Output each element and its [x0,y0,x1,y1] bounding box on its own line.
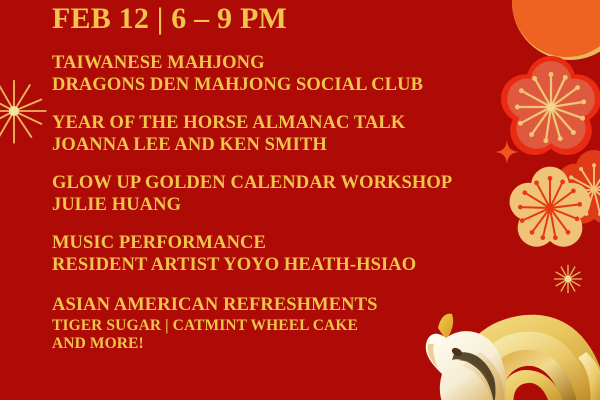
page-title: FEB 12 | 6 – 9 PM [52,2,522,36]
event-block-refreshments: ASIAN AMERICAN REFRESHMENTS TIGER SUGAR … [52,295,522,353]
plum-blossom-red-edge-decoration [556,150,600,226]
event-block-calendar-workshop: GLOW UP GOLDEN CALENDAR WORKSHOP JULIE H… [52,173,522,216]
event-presenter: JOANNA LEE AND KEN SMITH [52,135,522,157]
event-block-almanac-talk: YEAR OF THE HORSE ALMANAC TALK JOANNA LE… [52,113,522,156]
event-block-music-performance: MUSIC PERFORMANCE RESIDENT ARTIST YOYO H… [52,233,522,276]
event-presenter: JULIE HUANG [52,195,522,217]
poster-text-content: FEB 12 | 6 – 9 PM TAIWANESE MAHJONG DRAG… [52,2,522,353]
event-title: YEAR OF THE HORSE ALMANAC TALK [52,113,522,135]
event-title: GLOW UP GOLDEN CALENDAR WORKSHOP [52,173,522,195]
event-detail: AND MORE! [52,335,522,353]
event-title: MUSIC PERFORMANCE [52,233,522,255]
event-block-mahjong: TAIWANESE MAHJONG DRAGONS DEN MAHJONG SO… [52,53,522,96]
firework-burst-decoration [0,75,50,147]
firework-burst-small-decoration [551,262,585,296]
lunar-new-year-event-poster: FEB 12 | 6 – 9 PM TAIWANESE MAHJONG DRAG… [0,0,600,400]
orange-circle-corner-decoration [510,0,600,62]
event-presenter: RESIDENT ARTIST YOYO HEATH-HSIAO [52,255,522,277]
event-title: TAIWANESE MAHJONG [52,53,522,75]
event-detail: TIGER SUGAR | CATMINT WHEEL CAKE [52,317,522,335]
event-title: ASIAN AMERICAN REFRESHMENTS [52,295,522,317]
event-presenter: DRAGONS DEN MAHJONG SOCIAL CLUB [52,75,522,97]
